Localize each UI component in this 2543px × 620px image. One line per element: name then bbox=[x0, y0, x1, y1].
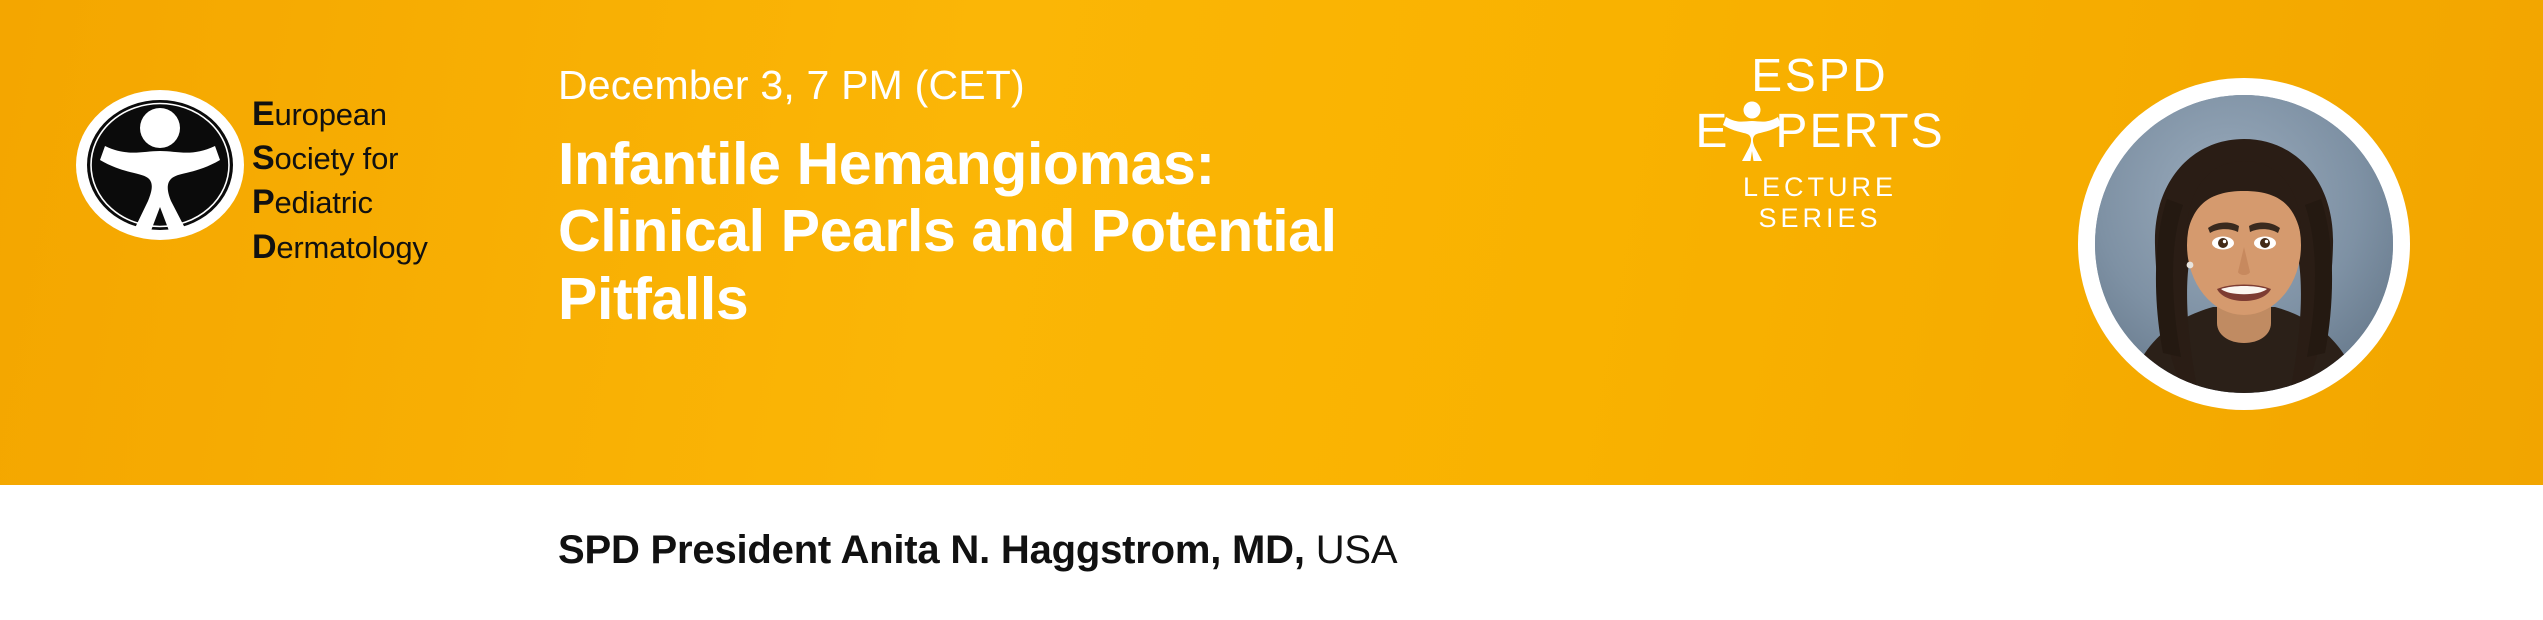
espd-experts-lecture-banner: European Society for Pediatric Dermatolo… bbox=[0, 0, 2543, 620]
society-word-european: uropean bbox=[274, 97, 386, 132]
lecture-series-subtitle: LECTURE SERIES bbox=[1680, 172, 1960, 234]
society-initial-p: P bbox=[252, 183, 274, 221]
society-name-line-4: Dermatology bbox=[252, 225, 572, 269]
society-name-line-1: European bbox=[252, 92, 572, 136]
experts-lockup-word: E PERTS bbox=[1680, 104, 1960, 160]
society-word-society-for: ociety for bbox=[274, 141, 398, 176]
speaker-avatar bbox=[2078, 78, 2410, 410]
speaker-headshot-photo bbox=[2095, 95, 2393, 393]
society-initial-s: S bbox=[252, 139, 274, 177]
event-title-line-3: Pitfalls bbox=[558, 266, 1618, 333]
experts-lockup-espd: ESPD bbox=[1680, 52, 1960, 98]
speaker-name-title: SPD President Anita N. Haggstrom, MD, bbox=[558, 528, 1305, 572]
experts-letters-perts: PERTS bbox=[1775, 105, 1944, 158]
event-date-time: December 3, 7 PM (CET) bbox=[558, 62, 1618, 109]
event-title: Infantile Hemangiomas: Clinical Pearls a… bbox=[558, 131, 1618, 333]
event-title-line-2: Clinical Pearls and Potential bbox=[558, 198, 1618, 265]
espd-experts-lockup: ESPD E PERTS LECTURE SERIES bbox=[1680, 52, 1960, 234]
society-name-line-2: Society for bbox=[252, 136, 572, 180]
speaker-name-line: SPD President Anita N. Haggstrom, MD, US… bbox=[558, 528, 1397, 573]
event-text-block: December 3, 7 PM (CET) Infantile Hemangi… bbox=[558, 62, 1618, 333]
society-name-wordmark: European Society for Pediatric Dermatolo… bbox=[252, 92, 572, 269]
speaker-country: USA bbox=[1316, 528, 1398, 572]
society-word-pediatric: ediatric bbox=[274, 185, 372, 220]
society-name-line-3: Pediatric bbox=[252, 180, 572, 224]
speaker-name-strip: SPD President Anita N. Haggstrom, MD, US… bbox=[0, 485, 2543, 620]
society-word-dermatology: ermatology bbox=[276, 230, 427, 265]
espd-person-circle-logo-icon bbox=[74, 88, 246, 242]
espd-person-figure-x-icon bbox=[1729, 105, 1775, 157]
event-title-line-1: Infantile Hemangiomas: bbox=[558, 131, 1618, 198]
society-initial-d: D bbox=[252, 228, 276, 266]
society-initial-e: E bbox=[252, 95, 274, 133]
